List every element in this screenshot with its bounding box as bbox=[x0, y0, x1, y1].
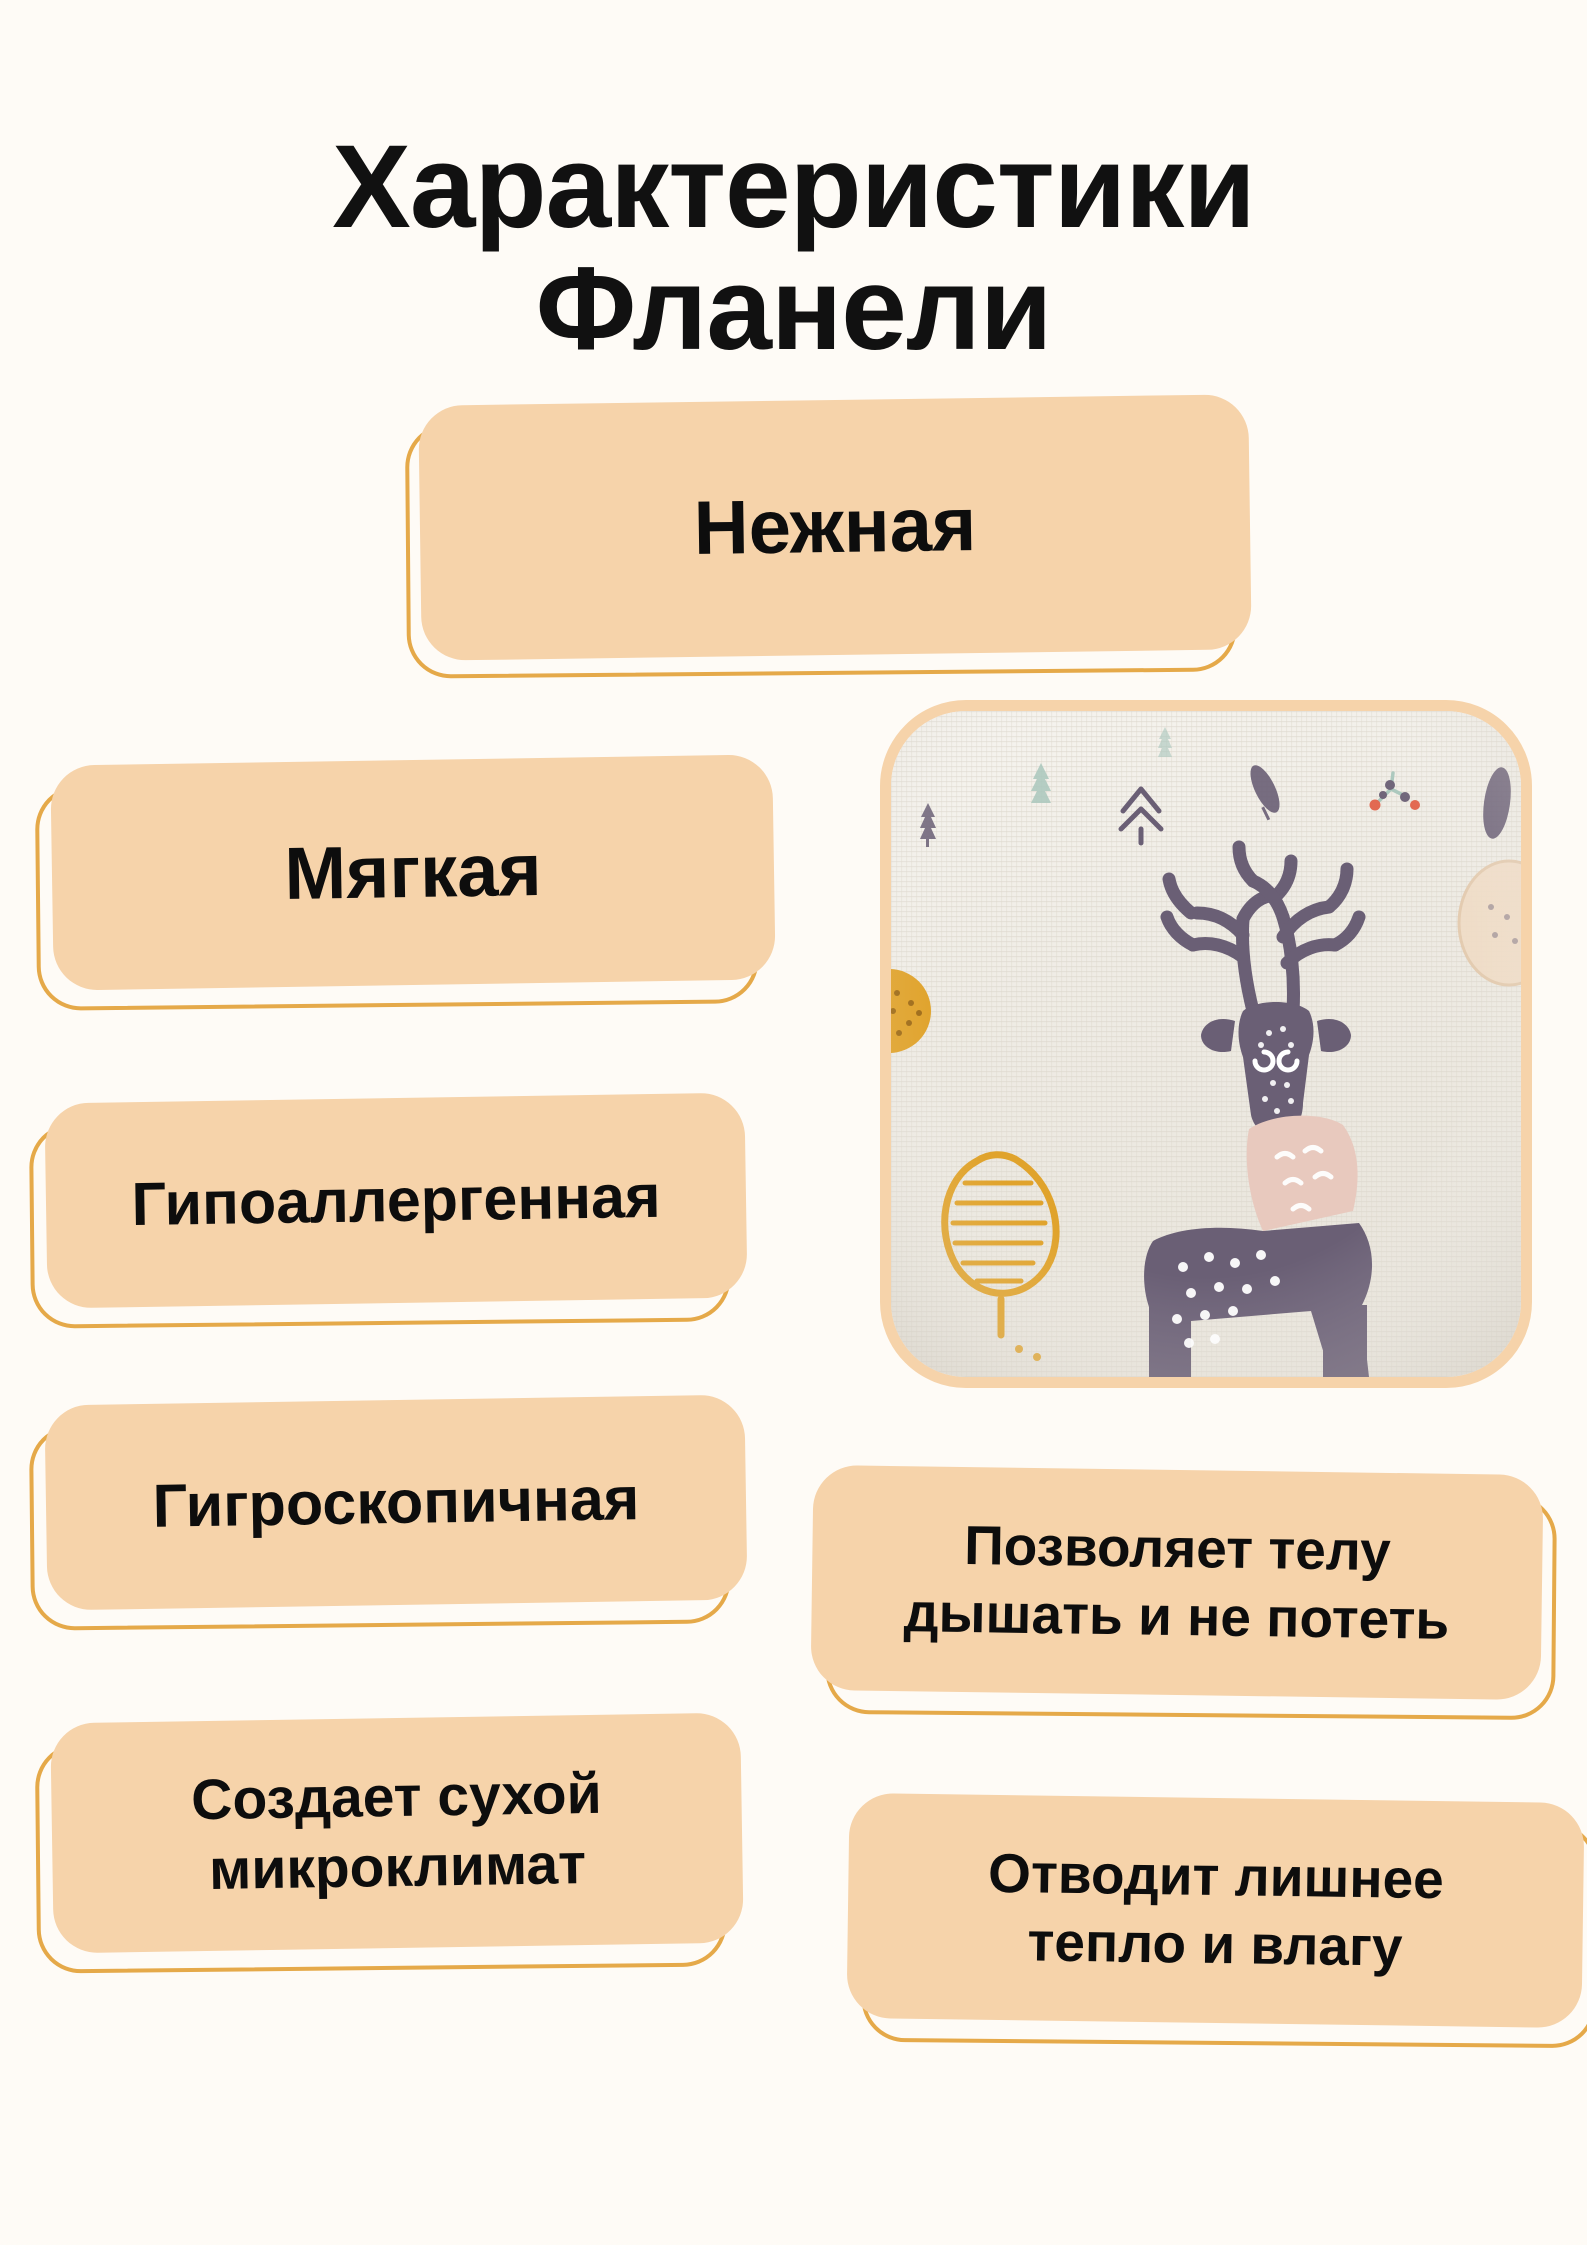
infographic-canvas: Характеристики Фланели Нежная Мягкая Гип… bbox=[0, 0, 1587, 2245]
feature-badge-moisture-wicking[interactable]: Отводит лишнее тепло и влагу bbox=[848, 1798, 1583, 2023]
badge-label: Отводит лишнее тепло и влагу bbox=[961, 1840, 1470, 1981]
badge-fill-shape: Создает сухой микроклимат bbox=[50, 1713, 744, 1954]
badge-fill-shape: Отводит лишнее тепло и влагу bbox=[846, 1793, 1584, 2028]
fabric-photo-image bbox=[891, 711, 1521, 1377]
badge-fill-shape: Гипоаллергенная bbox=[44, 1093, 747, 1309]
badge-fill-shape: Гигроскопичная bbox=[44, 1395, 747, 1611]
feature-badge-hygroscopic[interactable]: Гигроскопичная bbox=[46, 1400, 746, 1605]
badge-label: Нежная bbox=[667, 479, 1003, 576]
feature-badge-gentle[interactable]: Нежная bbox=[420, 400, 1250, 655]
feature-badge-soft[interactable]: Мягкая bbox=[52, 760, 774, 985]
badge-label: Позволяет телу дышать и не потеть bbox=[877, 1511, 1476, 1654]
badge-fill-shape: Нежная bbox=[418, 394, 1251, 661]
badge-label: Создает сухой микроклимат bbox=[165, 1760, 630, 1906]
feature-badge-breathable[interactable]: Позволяет телу дышать и не потеть bbox=[812, 1470, 1542, 1695]
fabric-photo bbox=[880, 700, 1532, 1388]
feature-badge-dry-microclimate[interactable]: Создает сухой микроклимат bbox=[52, 1718, 742, 1948]
badge-label: Гипоаллергенная bbox=[105, 1159, 687, 1243]
badge-fill-shape: Позволяет телу дышать и не потеть bbox=[810, 1465, 1543, 1700]
badge-label: Мягкая bbox=[258, 825, 568, 920]
page-title: Характеристики Фланели bbox=[0, 127, 1587, 370]
badge-fill-shape: Мягкая bbox=[50, 754, 775, 990]
badge-label: Гигроскопичная bbox=[126, 1461, 666, 1544]
feature-badge-hypoallergenic[interactable]: Гипоаллергенная bbox=[46, 1098, 746, 1303]
